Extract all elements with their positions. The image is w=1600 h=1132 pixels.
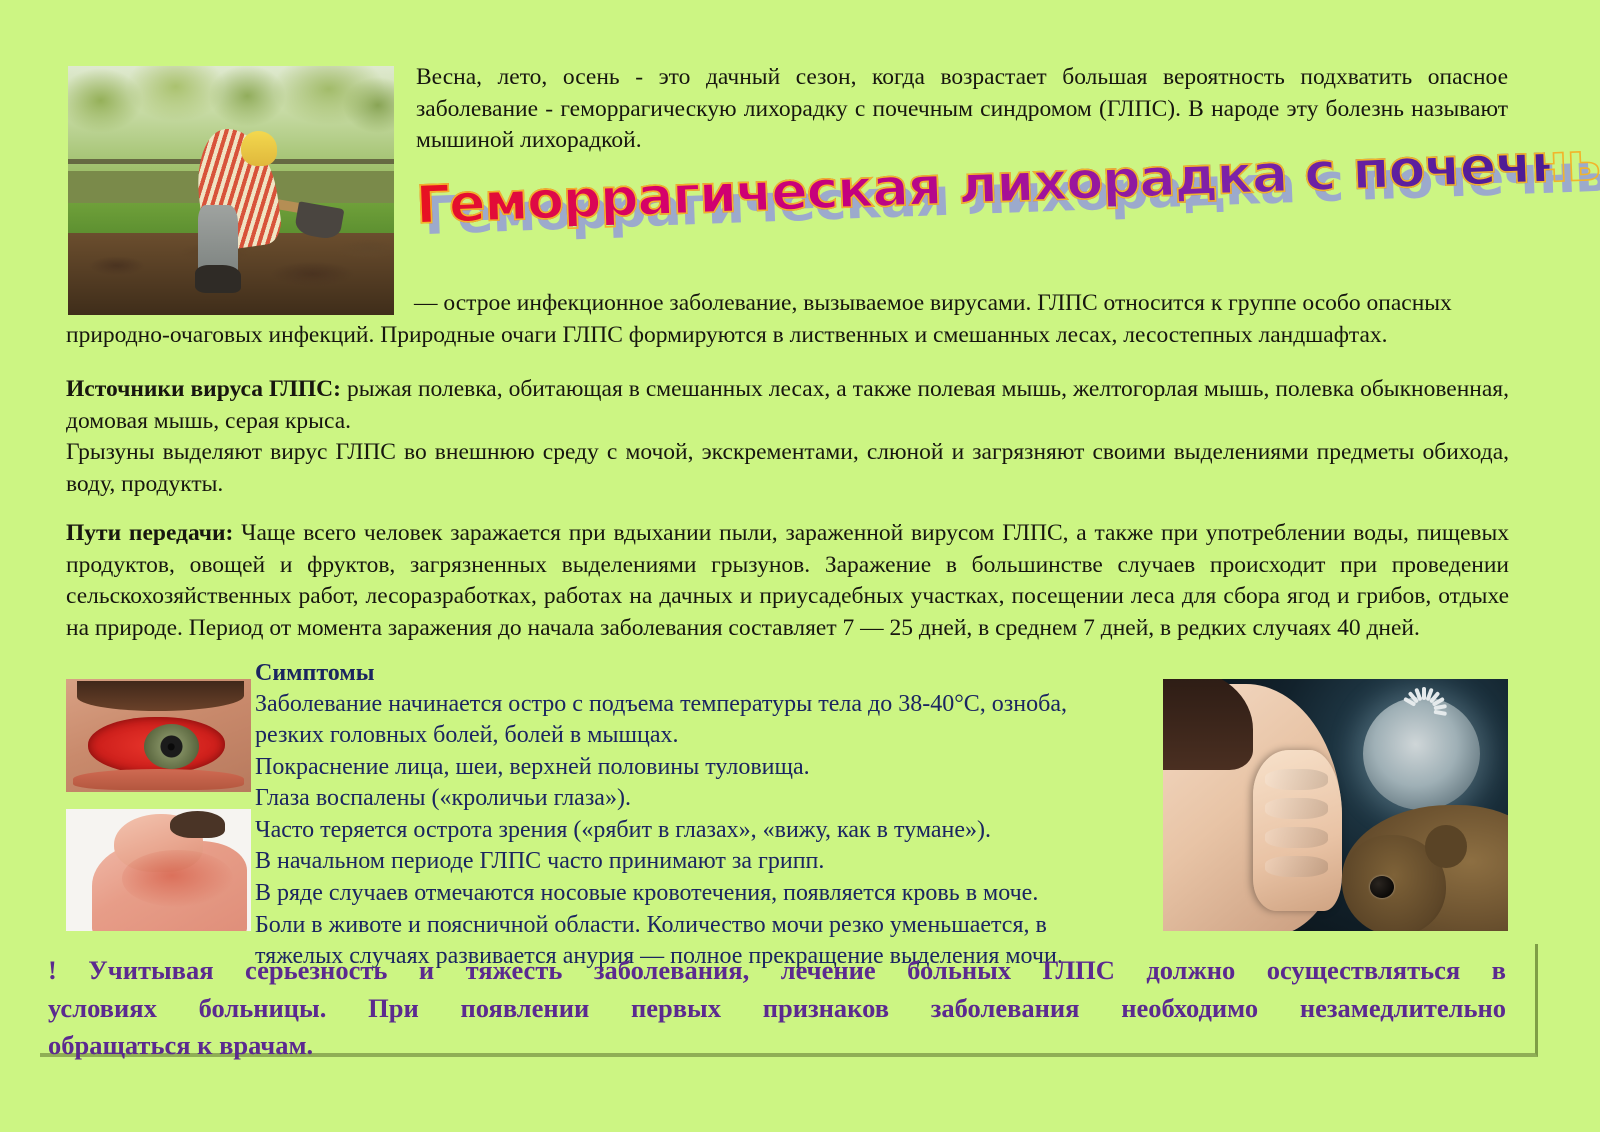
vole-ear (1425, 825, 1466, 868)
symptom-line: Покраснение лица, шеи, верхней половины … (255, 752, 1085, 784)
sources-paragraph-1: Источники вируса ГЛПС: рыжая полевка, об… (66, 374, 1509, 437)
symptom-line: Глаза воспалены («кроличьи глаза»). (255, 783, 1085, 815)
symptom-line: Боли в животе и поясничной области. Коли… (255, 910, 1085, 942)
transmission-heading: Пути передачи: (66, 520, 233, 546)
eyebrow (77, 681, 244, 710)
finger (1265, 769, 1328, 790)
warning-line-3: обращаться к врачам. (48, 1027, 1506, 1065)
warning-line-1: ! Учитывая серьезность и тяжесть заболев… (48, 952, 1506, 990)
gardener-headscarf (241, 131, 277, 166)
warning-line-2: условиях больницы. При появлении первых … (48, 990, 1506, 1028)
definition-line-1: — острое инфекционное заболевание, вызыв… (66, 288, 1509, 320)
finger (1265, 798, 1328, 819)
symptoms-block: Симптомы Заболевание начинается остро с … (255, 658, 1085, 973)
transmission-text: Чаще всего человек заражается при вдыхан… (66, 520, 1509, 641)
eye-pupil (168, 743, 175, 750)
neck-hair (170, 811, 226, 838)
sources-paragraph-2: Грызуны выделяют вирус ГЛПС во внешнюю с… (66, 437, 1509, 500)
symptom-line: В начальном периоде ГЛПС часто принимают… (255, 846, 1085, 878)
woman-hair (1163, 679, 1253, 770)
poster-title: Геморрагическая лихорадка с почечным син… (416, 174, 1512, 270)
virus-spike (1433, 709, 1446, 715)
transmission-block: Пути передачи: Чаще всего человек заража… (66, 518, 1509, 644)
transmission-paragraph: Пути передачи: Чаще всего человек заража… (66, 518, 1509, 644)
flushed-neck-photo (66, 809, 251, 931)
gardener-photo (68, 66, 394, 315)
finger (1265, 856, 1328, 877)
warning-text: ! Учитывая серьезность и тяжесть заболев… (48, 952, 1506, 1065)
symptom-line: В ряде случаев отмечаются носовые кровот… (255, 878, 1085, 910)
symptom-line: Заболевание начинается остро с подъема т… (255, 689, 1085, 721)
finger (1265, 827, 1328, 848)
definition-block: — острое инфекционное заболевание, вызыв… (66, 288, 1509, 351)
bloodshot-eye-photo (66, 679, 251, 792)
sources-block: Источники вируса ГЛПС: рыжая полевка, об… (66, 374, 1509, 500)
vole-eye (1370, 876, 1394, 899)
symptoms-heading: Симптомы (255, 658, 1085, 689)
headache-virus-vole-photo (1163, 679, 1508, 931)
virus-particle-icon (1363, 697, 1480, 810)
symptom-line: Часто теряется острота зрения («рябит в … (255, 815, 1085, 847)
lower-eyelid (73, 769, 243, 789)
definition-line-2: природно-очаговых инфекций. Природные оч… (66, 320, 1509, 352)
woman-hand (1253, 750, 1343, 911)
poster-root: Весна, лето, осень - это дачный сезон, к… (0, 0, 1600, 1132)
sources-heading: Источники вируса ГЛПС: (66, 376, 341, 402)
neck-redness (122, 850, 233, 906)
symptom-line: резких головных болей, болей в мышцах. (255, 720, 1085, 752)
